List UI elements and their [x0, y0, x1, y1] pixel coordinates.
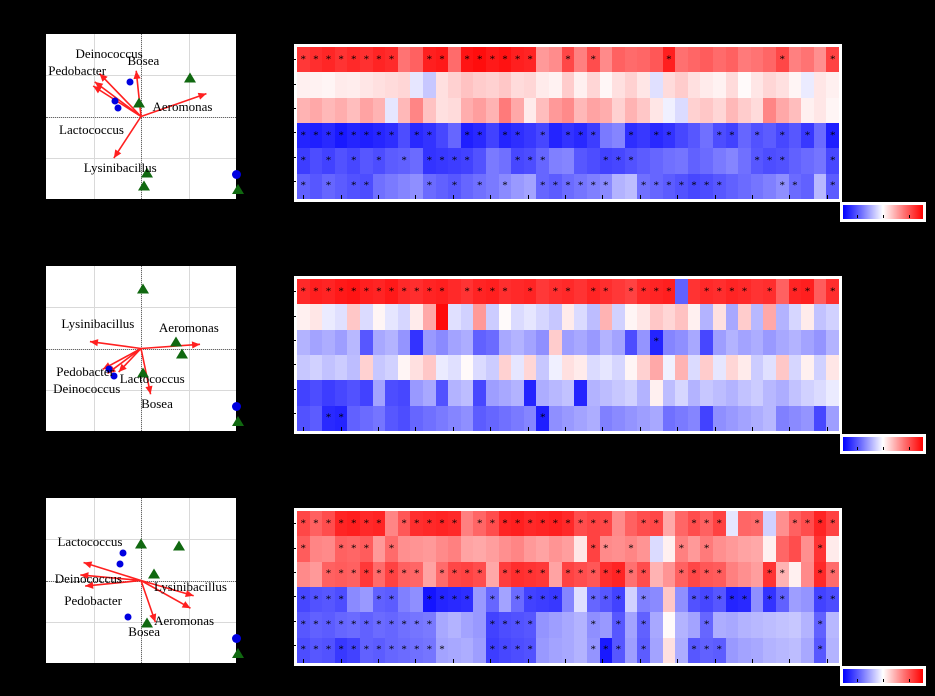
heatmap-cell — [625, 330, 638, 355]
heatmap-cell: * — [587, 279, 600, 304]
heatmap-cell — [310, 562, 323, 587]
heatmap-cell — [511, 304, 524, 329]
heatmap-cell — [587, 380, 600, 405]
heatmap-cell — [310, 148, 323, 173]
species-label: Lactococcus — [57, 534, 122, 550]
heatmap-cell — [637, 355, 650, 380]
heatmap-cell — [814, 98, 827, 123]
heatmap-cell: * — [486, 511, 499, 536]
heatmap-cell — [700, 330, 713, 355]
heatmap-cell — [826, 612, 839, 637]
heatmap-cell: * — [536, 148, 549, 173]
heatmap-cell — [587, 72, 600, 97]
heatmap-cell: * — [700, 612, 713, 637]
heatmap-cell — [461, 380, 474, 405]
heatmap-cell: * — [461, 123, 474, 148]
heatmap-cell — [423, 380, 436, 405]
heatmap-cell — [335, 330, 348, 355]
colorbar-2[interactable] — [840, 434, 926, 454]
panel-1: LysinibacillusAeromonasPedobacterDeinoco… — [0, 232, 935, 464]
heatmap-cell — [549, 304, 562, 329]
heatmap-cell — [448, 536, 461, 561]
heatmap-cell: * — [461, 562, 474, 587]
colorbar-3[interactable] — [840, 666, 926, 686]
heatmap-cell: * — [347, 279, 360, 304]
heatmap-cell: * — [826, 562, 839, 587]
heatmap-cell: * — [297, 123, 310, 148]
heatmap-cell — [524, 536, 537, 561]
heatmap-cell — [398, 355, 411, 380]
ordination-biplot-2[interactable]: LysinibacillusAeromonasPedobacterDeinoco… — [45, 265, 237, 432]
heatmap-cell — [322, 98, 335, 123]
heatmap-cell — [562, 148, 575, 173]
heatmap-cell — [562, 380, 575, 405]
heatmap-cell — [675, 148, 688, 173]
heatmap-cell — [650, 536, 663, 561]
heatmap-cell: * — [499, 511, 512, 536]
heatmap-cell: * — [373, 148, 386, 173]
heatmap-cell: * — [776, 587, 789, 612]
heatmap-cell — [713, 72, 726, 97]
heatmap-cell — [801, 562, 814, 587]
heatmap-cell — [436, 123, 449, 148]
heatmap-cell: * — [663, 279, 676, 304]
heatmap-cell: * — [398, 511, 411, 536]
heatmap-cell: * — [536, 511, 549, 536]
heatmap-cell — [675, 47, 688, 72]
heatmap-cell — [713, 98, 726, 123]
heatmap-cell — [612, 511, 625, 536]
heatmap-cell — [486, 330, 499, 355]
heatmap-cell — [789, 536, 802, 561]
heatmap-cell — [625, 47, 638, 72]
heatmap-cell: * — [763, 562, 776, 587]
heatmap-cell — [663, 587, 676, 612]
heatmap-cell: * — [310, 612, 323, 637]
heatmap-cell — [801, 587, 814, 612]
heatmap-cell: * — [499, 279, 512, 304]
legend-marker-triangle — [232, 648, 244, 658]
heatmap-cell — [562, 355, 575, 380]
heatmap-cell — [310, 355, 323, 380]
heatmap-cell: * — [675, 536, 688, 561]
heatmap-cell: * — [360, 536, 373, 561]
heatmap-cell — [763, 380, 776, 405]
heatmap-cell — [499, 330, 512, 355]
heatmap-cell — [511, 98, 524, 123]
heatmap-cell — [524, 355, 537, 380]
heatmap-cell — [663, 612, 676, 637]
heatmap-cell — [436, 330, 449, 355]
heatmap-cell — [801, 47, 814, 72]
heatmap-cell — [549, 612, 562, 637]
heatmap-cell — [398, 330, 411, 355]
heatmap-cell — [637, 47, 650, 72]
heatmap-cell — [486, 148, 499, 173]
heatmap-cell: * — [473, 47, 486, 72]
heatmap-cell — [410, 355, 423, 380]
heatmap-grid: ****************************************… — [297, 511, 839, 663]
heatmap-cell: * — [347, 123, 360, 148]
heatmap-cell — [549, 536, 562, 561]
heatmap-cell: * — [347, 47, 360, 72]
heatmap-cell — [789, 330, 802, 355]
heatmap-cell: * — [398, 279, 411, 304]
heatmap-cell: * — [461, 148, 474, 173]
heatmap-cell — [574, 587, 587, 612]
heatmap-cell: * — [511, 511, 524, 536]
heatmap-cell — [738, 330, 751, 355]
heatmap-cell — [637, 148, 650, 173]
legend-marker-circle — [232, 634, 241, 643]
heatmap-cell: * — [814, 612, 827, 637]
heatmap-cell — [612, 380, 625, 405]
heatmap-cell — [713, 304, 726, 329]
heatmap-cell — [499, 587, 512, 612]
heatmap-cell — [663, 72, 676, 97]
heatmap-cell — [801, 612, 814, 637]
heatmap-cell — [738, 98, 751, 123]
heatmap-cell — [700, 304, 713, 329]
heatmap-cell — [663, 562, 676, 587]
heatmap-cell — [726, 47, 739, 72]
heatmap-cell: * — [511, 612, 524, 637]
heatmap-cell — [499, 380, 512, 405]
heatmap-cell — [587, 330, 600, 355]
heatmap-cell — [625, 511, 638, 536]
heatmap-cell: * — [536, 123, 549, 148]
heatmap-cell — [524, 304, 537, 329]
heatmap-cell: * — [511, 587, 524, 612]
heatmap-cell — [410, 330, 423, 355]
heatmap-cell — [625, 72, 638, 97]
heatmap-cell: * — [410, 511, 423, 536]
heatmap-cell: * — [423, 123, 436, 148]
ordination-biplot-3[interactable]: LactococcusDeinococcusPedobacterLysiniba… — [45, 497, 237, 664]
heatmap-cell — [423, 98, 436, 123]
heatmap-cell — [637, 380, 650, 405]
heatmap-cell — [473, 330, 486, 355]
heatmap-cell — [297, 72, 310, 97]
heatmap-cell: * — [448, 587, 461, 612]
heatmap-cell: * — [574, 123, 587, 148]
heatmap-cell: * — [347, 536, 360, 561]
heatmap-cell — [473, 587, 486, 612]
colorbar-ticks — [843, 679, 923, 683]
heatmap-cell: * — [776, 123, 789, 148]
heatmap-cell — [360, 72, 373, 97]
heatmap-cell: * — [700, 511, 713, 536]
heatmap-cell: * — [461, 279, 474, 304]
species-label: Bosea — [128, 624, 160, 640]
heatmap-cell — [776, 330, 789, 355]
heatmap-cell: * — [347, 612, 360, 637]
heatmap-cell: * — [600, 562, 613, 587]
heatmap-cell — [297, 380, 310, 405]
heatmap-cell — [461, 612, 474, 637]
heatmap-cell: * — [562, 47, 575, 72]
sample-point-circle — [117, 560, 124, 567]
heatmap-cell — [726, 562, 739, 587]
sample-point-triangle — [184, 73, 196, 83]
heatmap-cell — [511, 536, 524, 561]
heatmap-cell — [688, 123, 701, 148]
heatmap-cell — [700, 380, 713, 405]
heatmap-cell — [600, 355, 613, 380]
heatmap-cell — [700, 98, 713, 123]
heatmap-cell — [373, 536, 386, 561]
heatmap-cell — [347, 304, 360, 329]
heatmap-cell — [562, 330, 575, 355]
heatmap-cell — [549, 330, 562, 355]
heatmap-cell — [700, 148, 713, 173]
heatmap-cell — [726, 380, 739, 405]
heatmap-cell — [663, 536, 676, 561]
heatmap-cell — [562, 304, 575, 329]
heatmap-cell: * — [826, 123, 839, 148]
sample-point-triangle — [133, 97, 145, 107]
heatmap-cell — [650, 304, 663, 329]
heatmap-cell — [675, 98, 688, 123]
heatmap-grid: ************************************* — [297, 279, 839, 431]
heatmap-cell: * — [726, 123, 739, 148]
heatmap-cell: * — [499, 123, 512, 148]
heatmap-cell — [801, 72, 814, 97]
species-label: Aeromonas — [159, 320, 219, 336]
heatmap-cell — [776, 380, 789, 405]
heatmap-cell — [562, 587, 575, 612]
heatmap-cell: * — [423, 279, 436, 304]
heatmap-cell — [688, 304, 701, 329]
heatmap-cell — [436, 380, 449, 405]
heatmap-cell: * — [625, 123, 638, 148]
heatmap-cell — [726, 72, 739, 97]
heatmap-cell — [423, 304, 436, 329]
species-label: Lysinibacillus — [61, 316, 134, 332]
heatmap-cell — [776, 536, 789, 561]
heatmap-cell: * — [625, 536, 638, 561]
heatmap-cell — [763, 98, 776, 123]
species-label: Lactococcus — [120, 371, 185, 387]
heatmap-cell: * — [700, 536, 713, 561]
species-label: Deinococcus — [53, 381, 120, 397]
heatmap-cell — [713, 380, 726, 405]
heatmap-cell: * — [360, 511, 373, 536]
heatmap-cell: * — [637, 279, 650, 304]
correlation-heatmap-1[interactable]: ****************************************… — [294, 44, 842, 202]
heatmap-cell — [574, 355, 587, 380]
heatmap-cell — [347, 380, 360, 405]
heatmap-cell: * — [549, 587, 562, 612]
heatmap-cell — [663, 355, 676, 380]
heatmap-cell — [625, 98, 638, 123]
heatmap-cell — [738, 536, 751, 561]
heatmap-cell: * — [524, 511, 537, 536]
heatmap-cell — [574, 536, 587, 561]
heatmap-cell — [688, 279, 701, 304]
heatmap-cell: * — [398, 562, 411, 587]
heatmap-cell: * — [410, 562, 423, 587]
heatmap-cell — [650, 98, 663, 123]
heatmap-cell — [751, 355, 764, 380]
correlation-heatmap-2[interactable]: ************************************* — [294, 276, 842, 434]
ordination-biplot-1[interactable]: DeinococcusPedobacterBoseaAeromonasLacto… — [45, 33, 237, 200]
heatmap-cell — [486, 380, 499, 405]
heatmap-cell — [310, 330, 323, 355]
heatmap-cell: * — [322, 123, 335, 148]
heatmap-cell: * — [688, 587, 701, 612]
heatmap-cell: * — [335, 123, 348, 148]
heatmap-cell — [688, 355, 701, 380]
heatmap-cell: * — [663, 123, 676, 148]
heatmap-cell — [612, 72, 625, 97]
heatmap-cell: * — [587, 562, 600, 587]
heatmap-cell — [751, 380, 764, 405]
heatmap-cell: * — [398, 612, 411, 637]
heatmap-cell — [663, 98, 676, 123]
heatmap-cell: * — [436, 562, 449, 587]
heatmap-cell — [751, 304, 764, 329]
heatmap-cell — [663, 511, 676, 536]
heatmap-cell: * — [612, 612, 625, 637]
heatmap-cell — [814, 148, 827, 173]
heatmap-cell — [473, 355, 486, 380]
species-label: Deinococcus — [55, 571, 122, 587]
heatmap-cell — [776, 279, 789, 304]
heatmap-cell — [297, 330, 310, 355]
heatmap-cell — [347, 72, 360, 97]
heatmap-cell — [360, 304, 373, 329]
heatmap-cell — [549, 562, 562, 587]
heatmap-cell: * — [423, 511, 436, 536]
heatmap-cell — [763, 47, 776, 72]
legend-marker-triangle — [232, 184, 244, 194]
heatmap-cell: * — [499, 47, 512, 72]
heatmap-cell — [612, 123, 625, 148]
heatmap-cell — [549, 123, 562, 148]
heatmap-cell: * — [322, 148, 335, 173]
heatmap-cell: * — [511, 148, 524, 173]
heatmap-cell — [499, 304, 512, 329]
heatmap-cell — [574, 72, 587, 97]
colorbar-1[interactable] — [840, 202, 926, 222]
heatmap-cell — [713, 536, 726, 561]
heatmap-cell — [347, 98, 360, 123]
heatmap-cell — [549, 148, 562, 173]
heatmap-cell — [297, 562, 310, 587]
heatmap-cell — [625, 612, 638, 637]
sample-point-triangle — [176, 349, 188, 359]
heatmap-cell — [410, 148, 423, 173]
heatmap-cell — [335, 380, 348, 405]
heatmap-cell: * — [347, 511, 360, 536]
heatmap-cell — [335, 355, 348, 380]
heatmap-cell — [776, 355, 789, 380]
heatmap-cell: * — [385, 536, 398, 561]
heatmap-cell: * — [297, 587, 310, 612]
heatmap-cell — [536, 536, 549, 561]
heatmap-cell — [738, 148, 751, 173]
heatmap-cell: * — [801, 123, 814, 148]
heatmap-cell — [625, 355, 638, 380]
heatmap-cell — [814, 304, 827, 329]
heatmap-cell — [625, 304, 638, 329]
heatmap-cell: * — [612, 562, 625, 587]
heatmap-cell: * — [587, 612, 600, 637]
heatmap-cell — [473, 536, 486, 561]
heatmap-cell: * — [524, 612, 537, 637]
heatmap-cell: * — [688, 511, 701, 536]
heatmap-cell: * — [335, 562, 348, 587]
heatmap-cell: * — [600, 279, 613, 304]
heatmap-cell — [814, 279, 827, 304]
heatmap-cell: * — [776, 47, 789, 72]
heatmap-cell — [688, 47, 701, 72]
heatmap-cell — [549, 98, 562, 123]
heatmap-cell: * — [322, 612, 335, 637]
sample-point-triangle — [137, 283, 149, 293]
heatmap-cell — [373, 330, 386, 355]
heatmap-cell — [600, 612, 613, 637]
panel-2: LactococcusDeinococcusPedobacterLysiniba… — [0, 464, 935, 696]
heatmap-cell — [826, 355, 839, 380]
heatmap-cell: * — [726, 587, 739, 612]
heatmap-cell — [562, 612, 575, 637]
heatmap-cell — [826, 98, 839, 123]
heatmap-cell — [600, 380, 613, 405]
heatmap-cell: * — [511, 123, 524, 148]
heatmap-cell — [448, 279, 461, 304]
heatmap-cell — [738, 304, 751, 329]
heatmap-cell — [322, 355, 335, 380]
heatmap-cell — [612, 330, 625, 355]
heatmap-cell — [524, 98, 537, 123]
heatmap-cell — [373, 355, 386, 380]
heatmap-cell: * — [738, 587, 751, 612]
heatmap-cell — [763, 612, 776, 637]
heatmap-cell — [776, 511, 789, 536]
heatmap-cell: * — [776, 562, 789, 587]
heatmap-cell — [763, 355, 776, 380]
correlation-heatmap-3[interactable]: ****************************************… — [294, 508, 842, 666]
heatmap-cell — [650, 148, 663, 173]
heatmap-cell — [688, 98, 701, 123]
heatmap-cell — [448, 612, 461, 637]
heatmap-cell: * — [385, 612, 398, 637]
heatmap-cell: * — [410, 123, 423, 148]
heatmap-cell: * — [650, 123, 663, 148]
heatmap-cell: * — [335, 511, 348, 536]
heatmap-cell — [473, 380, 486, 405]
heatmap-cell: * — [297, 279, 310, 304]
heatmap-cell — [625, 587, 638, 612]
heatmap-cell — [549, 380, 562, 405]
heatmap-cell: * — [385, 47, 398, 72]
heatmap-cell: * — [574, 511, 587, 536]
heatmap-cell — [360, 330, 373, 355]
heatmap-cell — [600, 98, 613, 123]
heatmap-cell: * — [360, 562, 373, 587]
sample-point-circle — [120, 549, 127, 556]
heatmap-cell: * — [625, 562, 638, 587]
heatmap-cell: * — [562, 123, 575, 148]
heatmap-cell — [663, 304, 676, 329]
heatmap-cell: * — [373, 562, 386, 587]
heatmap-cell — [625, 380, 638, 405]
heatmap-cell — [511, 330, 524, 355]
heatmap-cell — [738, 562, 751, 587]
heatmap-cell — [410, 536, 423, 561]
